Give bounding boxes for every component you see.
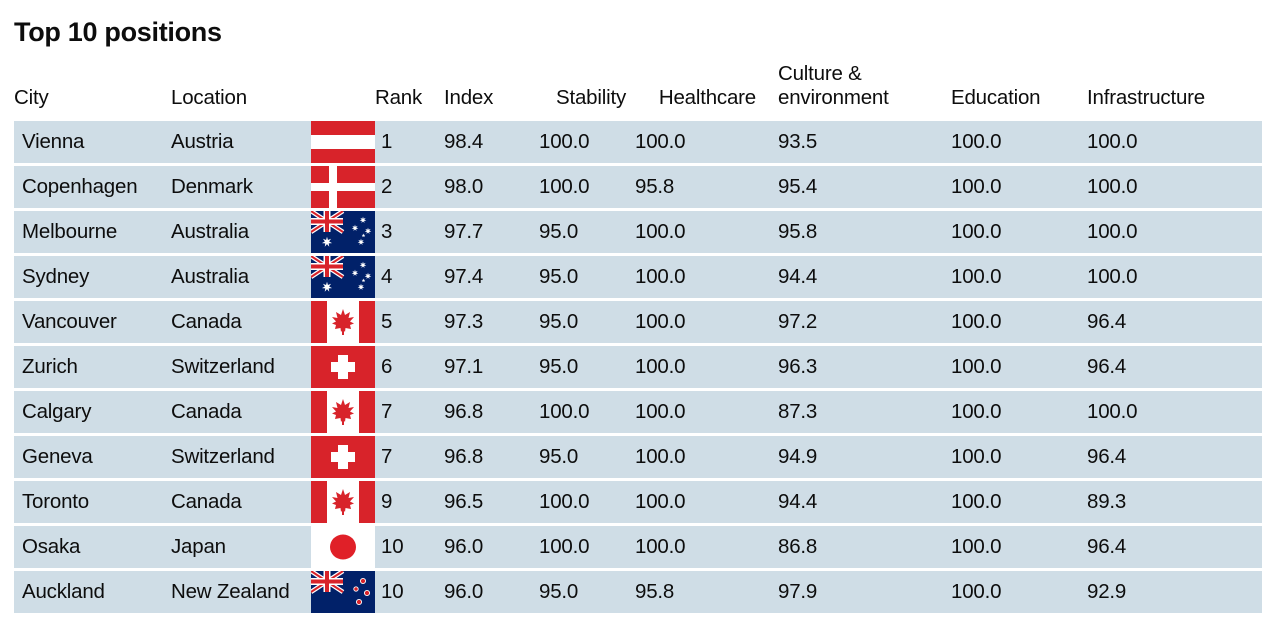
cell-index: 97.7 [444,211,539,253]
cell-healthcare: 100.0 [635,391,770,433]
cell-city: Sydney [14,256,171,298]
australia-flag-icon [311,211,375,253]
newzealand-flag-icon [311,571,375,613]
cell-infrastructure: 100.0 [1083,166,1262,208]
cell-healthcare: 100.0 [635,301,770,343]
cell-city: Copenhagen [14,166,171,208]
cell-rank: 9 [375,481,444,523]
cell-education: 100.0 [946,481,1083,523]
table-row: TorontoCanada996.5100.0100.094.4100.089.… [14,481,1262,523]
cell-education: 100.0 [946,346,1083,388]
cell-infrastructure: 96.4 [1083,526,1262,568]
cell-culture-environment: 95.8 [770,211,946,253]
table-row: AucklandNew Zealand1096.095.095.897.9100… [14,571,1262,613]
cell-infrastructure: 100.0 [1083,121,1262,163]
cell-culture-environment: 94.9 [770,436,946,478]
cell-index: 98.4 [444,121,539,163]
cell-stability: 100.0 [539,121,635,163]
cell-infrastructure: 92.9 [1083,571,1262,613]
cell-stability: 95.0 [539,571,635,613]
cell-infrastructure: 96.4 [1083,436,1262,478]
cell-index: 97.4 [444,256,539,298]
cell-stability: 95.0 [539,256,635,298]
cell-flag [311,166,375,208]
cell-education: 100.0 [946,121,1083,163]
cell-city: Vancouver [14,301,171,343]
table-row: CopenhagenDenmark298.0100.095.895.4100.0… [14,166,1262,208]
cell-infrastructure: 100.0 [1083,256,1262,298]
cell-stability: 100.0 [539,166,635,208]
cell-flag [311,481,375,523]
table-row: CalgaryCanada796.8100.0100.087.3100.0100… [14,391,1262,433]
denmark-flag-icon [311,166,375,208]
cell-rank: 10 [375,571,444,613]
cell-city: Melbourne [14,211,171,253]
cell-culture-environment: 87.3 [770,391,946,433]
cell-culture-environment: 93.5 [770,121,946,163]
table-row: GenevaSwitzerland796.895.0100.094.9100.0… [14,436,1262,478]
cell-stability: 95.0 [539,436,635,478]
cell-index: 97.3 [444,301,539,343]
column-header-education: Education [946,62,1083,118]
cell-stability: 95.0 [539,211,635,253]
cell-education: 100.0 [946,526,1083,568]
source-note: Source: EIU. [14,616,1266,621]
cell-education: 100.0 [946,301,1083,343]
cell-culture-environment: 97.2 [770,301,946,343]
column-header-culture-line2: environment [778,86,889,109]
cell-flag [311,121,375,163]
cell-healthcare: 95.8 [635,166,770,208]
cell-city: Toronto [14,481,171,523]
cell-culture-environment: 95.4 [770,166,946,208]
cell-flag [311,211,375,253]
cell-stability: 100.0 [539,481,635,523]
cell-location: Australia [171,211,311,253]
cell-culture-environment: 97.9 [770,571,946,613]
cell-rank: 4 [375,256,444,298]
cell-healthcare: 100.0 [635,121,770,163]
cell-location: Canada [171,481,311,523]
table-row: ZurichSwitzerland697.195.0100.096.3100.0… [14,346,1262,388]
cell-healthcare: 100.0 [635,256,770,298]
cell-flag [311,346,375,388]
column-header-healthcare: Healthcare [635,62,770,118]
cell-flag [311,391,375,433]
cell-stability: 95.0 [539,301,635,343]
cell-city: Vienna [14,121,171,163]
cell-rank: 3 [375,211,444,253]
cell-rank: 2 [375,166,444,208]
cell-culture-environment: 94.4 [770,256,946,298]
cell-location: Austria [171,121,311,163]
switzerland-flag-icon [311,436,375,478]
cell-flag [311,301,375,343]
cell-education: 100.0 [946,391,1083,433]
cell-flag [311,256,375,298]
cell-flag [311,526,375,568]
cell-infrastructure: 96.4 [1083,301,1262,343]
cell-location: Japan [171,526,311,568]
cell-rank: 7 [375,436,444,478]
cell-infrastructure: 89.3 [1083,481,1262,523]
cell-education: 100.0 [946,436,1083,478]
cell-healthcare: 100.0 [635,346,770,388]
cell-healthcare: 100.0 [635,211,770,253]
column-header-location: Location [171,62,311,118]
cell-location: Australia [171,256,311,298]
japan-flag-icon [311,526,375,568]
cell-city: Auckland [14,571,171,613]
cell-stability: 95.0 [539,346,635,388]
table-header-row: City Location Rank Index Stability Healt… [14,62,1262,118]
cell-location: Canada [171,301,311,343]
cell-location: Denmark [171,166,311,208]
cell-index: 96.8 [444,436,539,478]
cell-index: 96.8 [444,391,539,433]
cell-culture-environment: 94.4 [770,481,946,523]
page-title: Top 10 positions [14,0,1266,48]
cell-index: 96.0 [444,526,539,568]
cell-index: 97.1 [444,346,539,388]
column-header-infrastructure: Infrastructure [1083,62,1262,118]
cell-location: Canada [171,391,311,433]
column-header-city: City [14,62,171,118]
cell-infrastructure: 96.4 [1083,346,1262,388]
cell-healthcare: 100.0 [635,481,770,523]
canada-flag-icon [311,301,375,343]
cell-education: 100.0 [946,256,1083,298]
cell-rank: 5 [375,301,444,343]
cell-rank: 7 [375,391,444,433]
cell-stability: 100.0 [539,391,635,433]
cell-location: New Zealand [171,571,311,613]
column-header-flag [311,62,375,118]
cell-healthcare: 100.0 [635,526,770,568]
table-body: ViennaAustria198.4100.0100.093.5100.0100… [14,121,1262,613]
cell-education: 100.0 [946,571,1083,613]
cell-flag [311,436,375,478]
cell-city: Zurich [14,346,171,388]
canada-flag-icon [311,391,375,433]
cell-location: Switzerland [171,436,311,478]
austria-flag-icon [311,121,375,163]
column-header-rank: Rank [375,62,444,118]
cell-index: 96.0 [444,571,539,613]
cell-city: Calgary [14,391,171,433]
table-row: ViennaAustria198.4100.0100.093.5100.0100… [14,121,1262,163]
cell-index: 96.5 [444,481,539,523]
cell-city: Geneva [14,436,171,478]
cell-infrastructure: 100.0 [1083,391,1262,433]
switzerland-flag-icon [311,346,375,388]
australia-flag-icon [311,256,375,298]
cell-education: 100.0 [946,211,1083,253]
column-header-index: Index [444,62,539,118]
cell-index: 98.0 [444,166,539,208]
column-header-culture-line1: Culture & [778,62,862,85]
cell-infrastructure: 100.0 [1083,211,1262,253]
cell-stability: 100.0 [539,526,635,568]
column-header-stability: Stability [539,62,635,118]
cell-education: 100.0 [946,166,1083,208]
cell-rank: 6 [375,346,444,388]
cell-culture-environment: 86.8 [770,526,946,568]
canada-flag-icon [311,481,375,523]
cell-healthcare: 95.8 [635,571,770,613]
cell-healthcare: 100.0 [635,436,770,478]
cell-location: Switzerland [171,346,311,388]
cell-rank: 10 [375,526,444,568]
table-figure: Top 10 positions City Location Rank Inde… [0,0,1280,621]
cell-culture-environment: 96.3 [770,346,946,388]
cell-city: Osaka [14,526,171,568]
table-row: MelbourneAustralia397.795.0100.095.8100.… [14,211,1262,253]
table-row: OsakaJapan1096.0100.0100.086.8100.096.4 [14,526,1262,568]
table-row: VancouverCanada597.395.0100.097.2100.096… [14,301,1262,343]
top-10-positions-table: City Location Rank Index Stability Healt… [14,59,1262,616]
table-row: SydneyAustralia497.495.0100.094.4100.010… [14,256,1262,298]
cell-flag [311,571,375,613]
column-header-culture-environment: Culture & environment [770,62,946,118]
cell-rank: 1 [375,121,444,163]
table-header: City Location Rank Index Stability Healt… [14,62,1262,118]
